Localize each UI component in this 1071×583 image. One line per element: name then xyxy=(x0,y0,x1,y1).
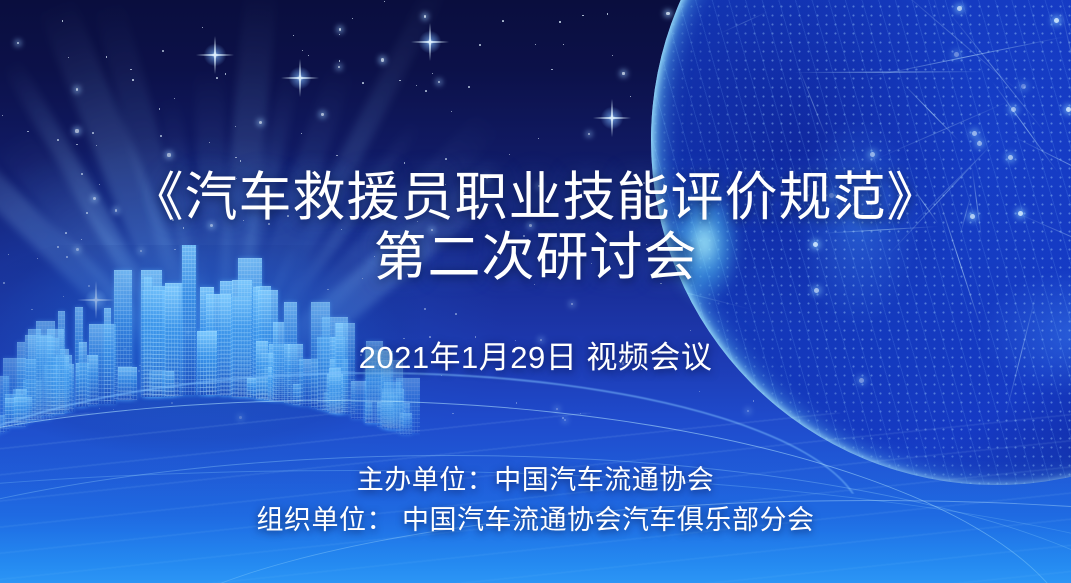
title-line-1: 《汽车救援员职业技能评价规范》 xyxy=(0,168,1071,228)
page-title: 《汽车救援员职业技能评价规范》 第二次研讨会 xyxy=(0,168,1071,288)
title-line-2: 第二次研讨会 xyxy=(0,228,1071,288)
organizer-block: 主办单位：中国汽车流通协会 组织单位： 中国汽车流通协会汽车俱乐部分会 xyxy=(0,460,1071,540)
slide-content: 《汽车救援员职业技能评价规范》 第二次研讨会 2021年1月29日 视频会议 主… xyxy=(0,0,1071,583)
conference-title-slide: 《汽车救援员职业技能评价规范》 第二次研讨会 2021年1月29日 视频会议 主… xyxy=(0,0,1071,583)
host-organization: 主办单位：中国汽车流通协会 xyxy=(0,460,1071,500)
event-datetime: 2021年1月29日 视频会议 xyxy=(0,338,1071,378)
organizing-unit: 组织单位： 中国汽车流通协会汽车俱乐部分会 xyxy=(0,500,1071,540)
